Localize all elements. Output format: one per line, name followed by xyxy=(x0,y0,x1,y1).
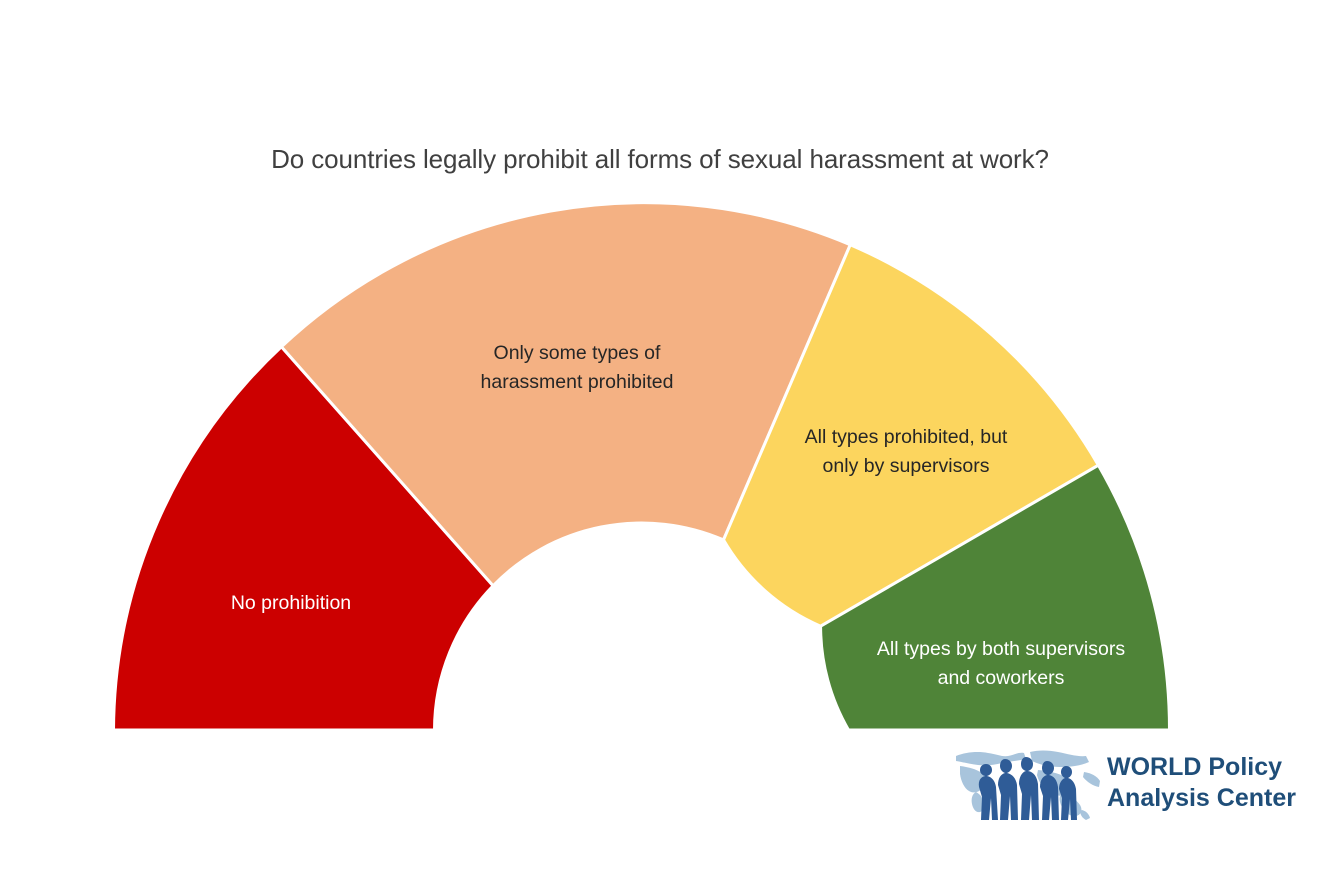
slice-label-line: No prohibition xyxy=(231,592,351,614)
slice-label-line: harassment prohibited xyxy=(481,371,674,393)
logo-line-2: Analysis Center xyxy=(1107,783,1297,814)
logo-wordmark: WORLD Policy Analysis Center xyxy=(1107,752,1297,813)
slice-label-line: All types by both supervisors xyxy=(877,638,1125,660)
chart-figure: Do countries legally prohibit all forms … xyxy=(0,0,1320,886)
world-policy-analysis-center-logo: WORLD Policy Analysis Center xyxy=(952,740,1292,832)
slice-label-line: and coworkers xyxy=(938,667,1065,689)
slice-label-line: Only some types of xyxy=(494,342,661,364)
slice-label-line: All types prohibited, but xyxy=(805,426,1008,448)
logo-world-word: WORLD xyxy=(1107,753,1201,781)
slice-label-no-prohibition: No prohibition xyxy=(231,592,351,614)
globe-people-icon xyxy=(952,742,1102,824)
slice-label-line: only by supervisors xyxy=(823,455,990,477)
logo-line-1: WORLD Policy xyxy=(1107,752,1297,783)
logo-policy-word: Policy xyxy=(1201,753,1282,781)
